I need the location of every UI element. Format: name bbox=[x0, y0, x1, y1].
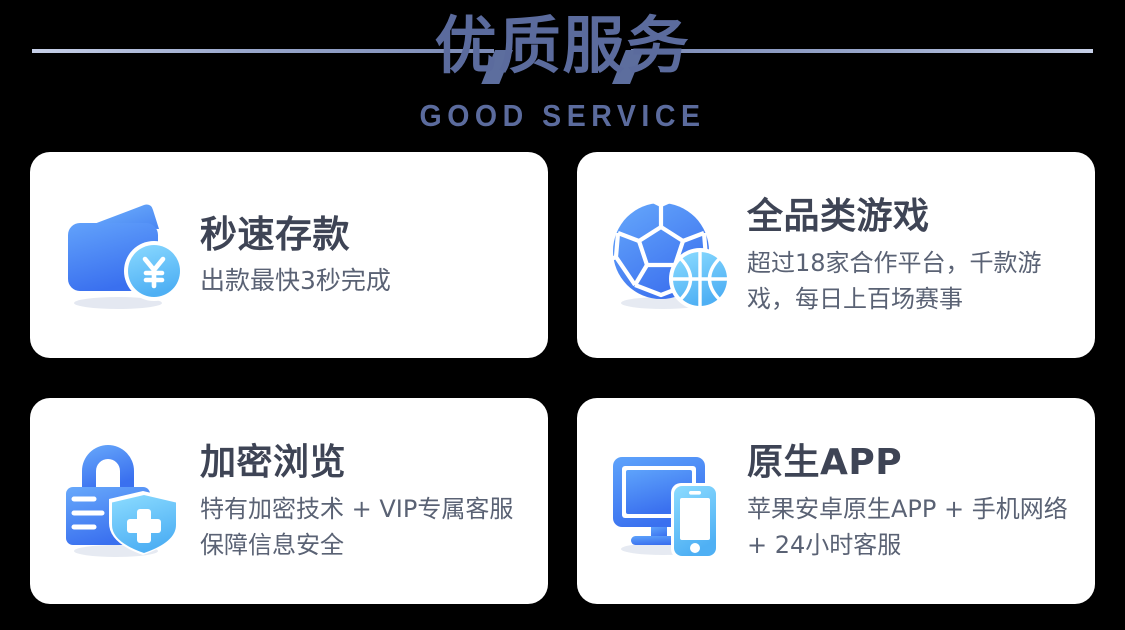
lock-shield-icon bbox=[58, 437, 186, 565]
feature-card-text: 原生APP 苹果安卓原生APP + 手机网络 + 24小时客服 bbox=[747, 440, 1077, 563]
wallet-yen-icon bbox=[58, 191, 186, 319]
feature-card-title: 原生APP bbox=[747, 440, 1077, 486]
page-title: 优质服务 bbox=[0, 6, 1125, 86]
feature-card-desc: 超过18家合作平台，千款游戏，每日上百场赛事 bbox=[747, 245, 1077, 317]
feature-card-deposit[interactable]: 秒速存款 出款最快3秒完成 bbox=[30, 152, 548, 358]
feature-card-text: 全品类游戏 超过18家合作平台，千款游戏，每日上百场赛事 bbox=[747, 194, 1077, 317]
soccer-basketball-icon bbox=[605, 191, 733, 319]
feature-card-desc: 特有加密技术 + VIP专属客服保障信息安全 bbox=[200, 491, 530, 563]
feature-card-title: 加密浏览 bbox=[200, 440, 530, 486]
feature-card-native-app[interactable]: 原生APP 苹果安卓原生APP + 手机网络 + 24小时客服 bbox=[577, 398, 1095, 604]
feature-card-text: 秒速存款 出款最快3秒完成 bbox=[200, 212, 530, 299]
feature-card-title: 秒速存款 bbox=[200, 212, 530, 258]
feature-card-games[interactable]: 全品类游戏 超过18家合作平台，千款游戏，每日上百场赛事 bbox=[577, 152, 1095, 358]
feature-card-encryption[interactable]: 加密浏览 特有加密技术 + VIP专属客服保障信息安全 bbox=[30, 398, 548, 604]
page-subtitle: GOOD SERVICE bbox=[45, 98, 1080, 134]
monitor-phone-icon bbox=[605, 437, 733, 565]
feature-card-desc: 出款最快3秒完成 bbox=[200, 263, 530, 299]
feature-card-grid: 秒速存款 出款最快3秒完成 bbox=[30, 152, 1095, 604]
feature-card-title: 全品类游戏 bbox=[747, 194, 1077, 240]
feature-card-desc: 苹果安卓原生APP + 手机网络 + 24小时客服 bbox=[747, 491, 1077, 563]
page-header: 优质服务 GOOD SERVICE bbox=[0, 0, 1125, 150]
feature-card-text: 加密浏览 特有加密技术 + VIP专属客服保障信息安全 bbox=[200, 440, 530, 563]
